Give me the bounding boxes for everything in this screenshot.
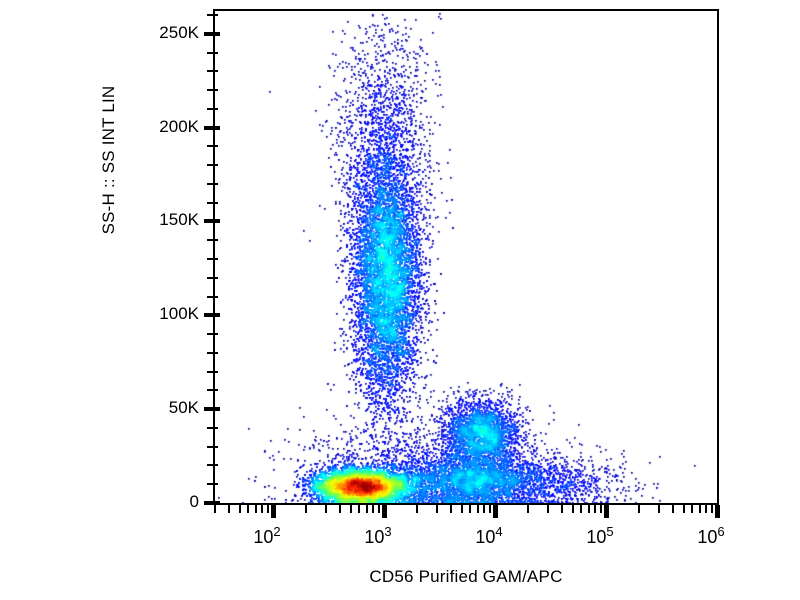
y-tick-label: 200K [49, 117, 199, 137]
y-tick-minor [207, 52, 218, 54]
y-tick-minor [207, 371, 218, 373]
y-tick-minor [207, 89, 218, 91]
x-tick-minor [705, 505, 707, 513]
x-tick-minor [436, 505, 438, 513]
x-tick-minor [261, 505, 263, 513]
x-tick-minor [527, 505, 529, 513]
x-tick-minor [672, 505, 674, 513]
x-tick-minor [594, 505, 596, 513]
x-tick-minor [267, 505, 269, 513]
y-tick-minor [207, 202, 218, 204]
y-tick-minor [207, 145, 218, 147]
x-tick-minor [691, 505, 693, 513]
y-tick-label: 100K [49, 304, 199, 324]
y-tick-major [204, 32, 220, 36]
x-tick-minor [572, 505, 574, 513]
x-tick-major [715, 505, 720, 518]
x-tick-minor [588, 505, 590, 513]
x-tick-minor [683, 505, 685, 513]
x-tick-minor [561, 505, 563, 513]
x-tick-minor [489, 505, 491, 513]
y-tick-minor [207, 352, 218, 354]
x-tick-minor [600, 505, 602, 513]
x-tick-minor [580, 505, 582, 513]
x-tick-major [493, 505, 498, 518]
x-axis-title: CD56 Purified GAM/APC [213, 567, 719, 587]
x-tick-minor [325, 505, 327, 513]
x-tick-minor [305, 505, 307, 513]
x-tick-minor [214, 505, 216, 513]
plot-area [213, 9, 719, 505]
x-tick-minor [255, 505, 257, 513]
x-tick-label: 104 [475, 524, 502, 548]
y-axis-title: SS-H :: SS INT LIN [99, 45, 119, 275]
x-tick-label: 105 [586, 524, 613, 548]
x-tick-minor [483, 505, 485, 513]
x-tick-minor [366, 505, 368, 513]
x-tick-minor [239, 505, 241, 513]
x-tick-minor [450, 505, 452, 513]
x-tick-minor [547, 505, 549, 513]
x-tick-minor [228, 505, 230, 513]
y-tick-minor [207, 389, 218, 391]
y-tick-minor [207, 446, 218, 448]
x-tick-label: 103 [364, 524, 391, 548]
x-tick-major [382, 505, 387, 518]
x-tick-minor [416, 505, 418, 513]
flow-cytometry-figure: SS-H :: SS INT LIN 050K100K150K200K250K … [0, 0, 800, 600]
y-tick-minor [207, 183, 218, 185]
y-tick-minor [207, 70, 218, 72]
x-tick-minor [461, 505, 463, 513]
y-tick-minor [207, 258, 218, 260]
y-tick-minor [207, 14, 218, 16]
y-tick-label: 250K [49, 23, 199, 43]
y-tick-minor [207, 164, 218, 166]
x-tick-minor [339, 505, 341, 513]
y-tick-major [204, 313, 220, 317]
y-tick-minor [207, 239, 218, 241]
x-tick-label: 106 [697, 524, 724, 548]
x-tick-minor [638, 505, 640, 513]
scatter-plot-canvas [215, 11, 717, 503]
x-tick-minor [469, 505, 471, 513]
y-tick-label: 0 [49, 492, 199, 512]
x-tick-minor [711, 505, 713, 513]
x-tick-minor [378, 505, 380, 513]
y-tick-minor [207, 277, 218, 279]
x-tick-major [604, 505, 609, 518]
x-tick-minor [372, 505, 374, 513]
y-tick-minor [207, 333, 218, 335]
x-tick-minor [358, 505, 360, 513]
y-tick-major [204, 126, 220, 130]
y-tick-major [204, 219, 220, 223]
y-tick-minor [207, 108, 218, 110]
y-tick-minor [207, 483, 218, 485]
y-tick-label: 150K [49, 210, 199, 230]
x-tick-minor [350, 505, 352, 513]
y-tick-minor [207, 464, 218, 466]
y-tick-minor [207, 296, 218, 298]
y-tick-major [204, 501, 220, 505]
x-tick-minor [699, 505, 701, 513]
x-tick-minor [247, 505, 249, 513]
x-tick-minor [658, 505, 660, 513]
y-tick-minor [207, 427, 218, 429]
x-tick-label: 102 [253, 524, 280, 548]
y-tick-label: 50K [49, 398, 199, 418]
y-tick-major [204, 407, 220, 411]
x-tick-minor [477, 505, 479, 513]
x-tick-major [271, 505, 276, 518]
